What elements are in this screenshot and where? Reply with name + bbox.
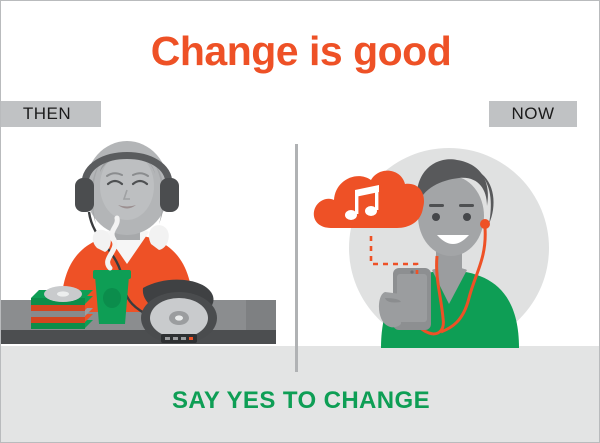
cd-case-stack <box>31 286 93 329</box>
now-scene <box>301 132 600 372</box>
vertical-divider <box>295 144 298 372</box>
right-eye <box>463 213 471 221</box>
desk-front-edge <box>1 330 276 344</box>
headphone-earcup-right <box>160 178 179 212</box>
coffee-cup-lid <box>93 270 131 279</box>
coffee-cup-logo <box>103 288 121 308</box>
page-title: Change is good <box>1 31 600 72</box>
earbud-right <box>480 219 490 229</box>
then-scene <box>1 132 296 372</box>
headphone-earcup-left <box>75 178 94 212</box>
desk-side <box>246 300 276 330</box>
smartphone-speaker <box>410 270 413 273</box>
tab-then[interactable]: THEN <box>1 101 101 127</box>
comparison-stage: SAY YES TO CHANGE <box>1 132 600 442</box>
left-eye <box>432 213 440 221</box>
cd-player <box>141 280 217 344</box>
left-eyebrow <box>429 204 444 207</box>
tab-now[interactable]: NOW <box>489 101 577 127</box>
right-eyebrow <box>459 204 474 207</box>
smartphone-screen <box>397 274 427 322</box>
poster: Change is good THEN NOW <box>0 0 600 443</box>
caption-text: SAY YES TO CHANGE <box>1 387 600 415</box>
